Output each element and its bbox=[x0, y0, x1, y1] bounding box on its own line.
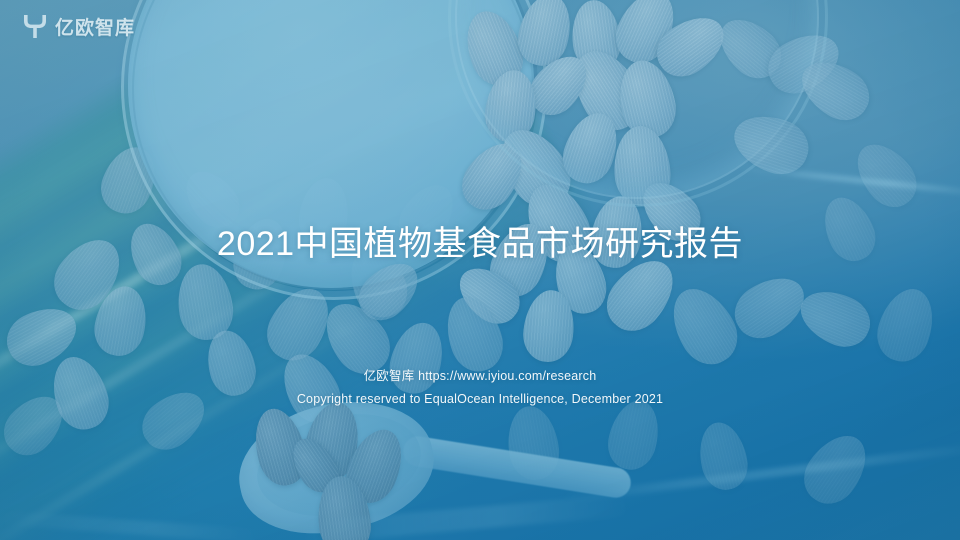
report-cover-slide: 亿欧智库 2021中国植物基食品市场研究报告 亿欧智库 https://www.… bbox=[0, 0, 960, 540]
background-photo bbox=[0, 0, 960, 540]
yiou-y-mark-icon bbox=[22, 12, 48, 40]
cover-subtitle-block: 亿欧智库 https://www.iyiou.com/research Copy… bbox=[0, 365, 960, 411]
cover-copyright-line: Copyright reserved to EqualOcean Intelli… bbox=[0, 388, 960, 411]
brand-logo-text: 亿欧智库 bbox=[55, 13, 135, 40]
brand-logo: 亿欧智库 bbox=[22, 12, 135, 40]
cover-title: 2021中国植物基食品市场研究报告 bbox=[0, 222, 960, 266]
cover-source-line: 亿欧智库 https://www.iyiou.com/research bbox=[0, 365, 960, 388]
vignette-overlay bbox=[0, 0, 960, 540]
